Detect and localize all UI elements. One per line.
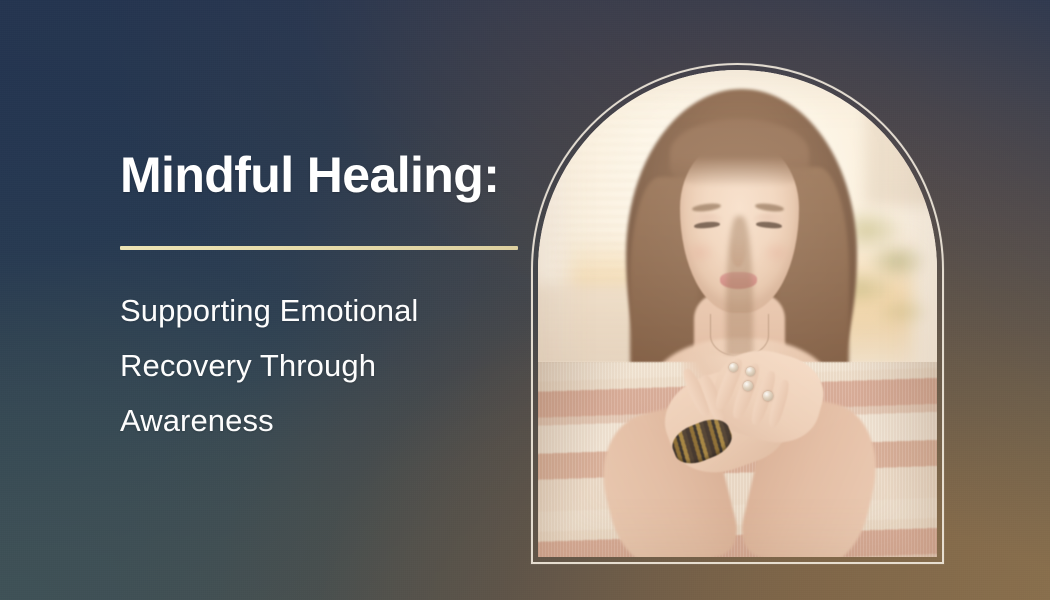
subject-ring-2 <box>746 367 755 376</box>
hero-photo <box>538 70 937 557</box>
page-subtitle-line-3: Awareness <box>120 393 540 448</box>
page-title: Mindful Healing: <box>120 150 540 200</box>
page-subtitle: Supporting Emotional Recovery Through Aw… <box>120 250 540 449</box>
subject-hair-fringe <box>670 119 810 187</box>
banner-copy-block: Mindful Healing: Supporting Emotional Re… <box>120 150 540 449</box>
arch-photo-frame <box>531 63 944 564</box>
subject-cheek-left <box>684 240 716 264</box>
mindful-healing-banner: Mindful Healing: Supporting Emotional Re… <box>0 0 1050 600</box>
page-subtitle-line-2: Recovery Through <box>120 338 540 393</box>
page-subtitle-line-1: Supporting Emotional <box>120 283 540 338</box>
subject-ring-3 <box>763 391 773 401</box>
subject-cheek-right <box>761 240 793 264</box>
